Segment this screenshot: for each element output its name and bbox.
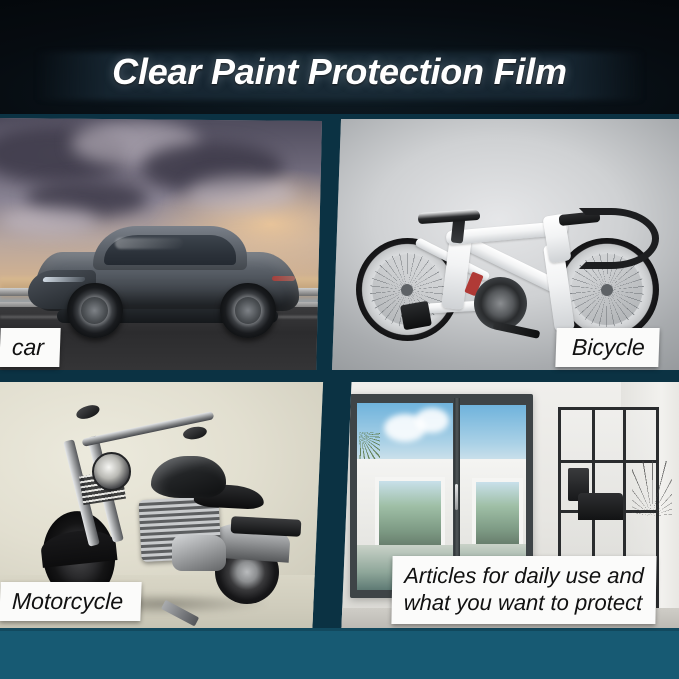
motorcycle-mirror-right [182,425,208,441]
car-rear-wheel [220,283,275,338]
motorcycle-fuel-tank [151,456,226,498]
car-illustration [35,226,299,324]
door-handle[interactable] [455,484,458,510]
label-chip-bicycle: Bicycle [555,328,659,367]
label-line-1: Articles for daily use and [404,562,644,589]
hub [401,284,413,296]
label-chip-car: car [0,328,61,367]
poster-root: Clear Paint Protection Film [0,0,679,679]
motorcycle-headlight [92,452,131,491]
label-line-2: what you want to protect [404,589,644,616]
panel-grid [0,114,679,630]
car-headlight [43,277,87,282]
shelf-lamp [578,493,624,520]
hub [601,284,613,296]
label-chip-motorcycle: Motorcycle [0,582,142,621]
cloud-shape [415,408,449,433]
motorcycle-illustration [33,402,301,610]
car-glass-highlight [115,238,184,249]
page-title: Clear Paint Protection Film [0,50,679,94]
bicycle-illustration [349,164,661,345]
car-front-wheel [67,283,122,338]
pane-sky [460,405,526,467]
header-banner: Clear Paint Protection Film [0,0,679,120]
cloud-shape [187,176,296,210]
label-chip-articles: Articles for daily use and what you want… [391,556,656,624]
bicycle-saddle [418,209,481,224]
motorcycle-mirror-left [74,403,101,422]
motorcycle-crankcase [172,535,226,570]
car-taillight [272,276,296,280]
footer-band [0,628,679,679]
decor-branch [632,461,673,516]
footer-band-edge [0,628,679,631]
